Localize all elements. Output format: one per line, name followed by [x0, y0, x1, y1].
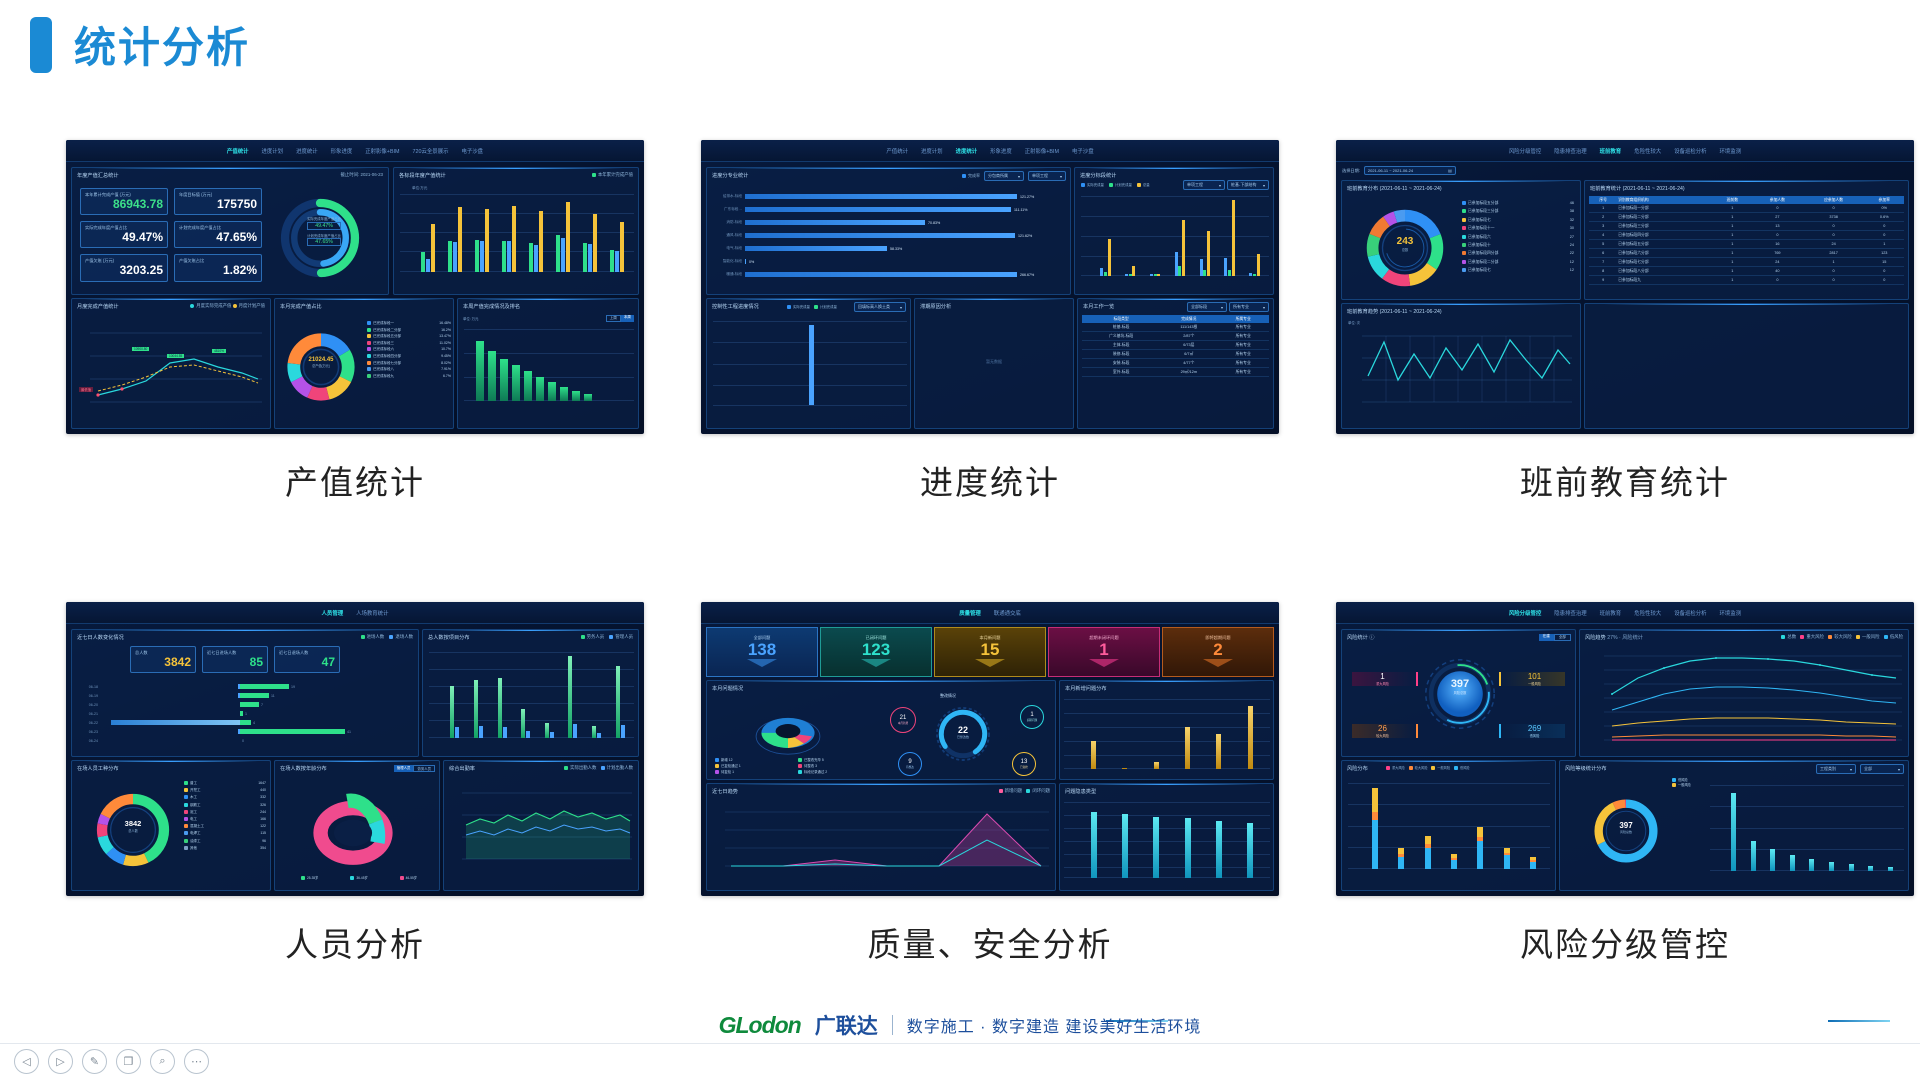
donut-center-label: 总产值(万元)	[296, 363, 346, 368]
kpi-value: 175750	[179, 198, 257, 211]
chart-legend: 新增问题 闭环问题	[999, 788, 1050, 794]
panel-title: 在场人数按年龄分布	[280, 765, 327, 772]
kpi-value: 2	[1213, 641, 1222, 660]
kpi-value: 49.47%	[85, 231, 163, 244]
chart-legend: 实际出勤人数 计划出勤人数	[564, 765, 633, 771]
panel-worker-type: 在场人员工种分布 3842 总人数	[71, 760, 271, 891]
dashboard-screenshot-output-value[interactable]: 产值统计 进度计划 进度统计 形象进度 正射影像+BIM 720云全景展示 电子…	[66, 140, 644, 434]
nav-item[interactable]: 人场教育统计	[356, 609, 388, 617]
col-header: 识别教育组织机构	[1617, 196, 1712, 204]
panel-title: 综合出勤率	[449, 765, 475, 772]
worker-type-legend: 普工1647 开挖工440 木工332 钢筋工326 泥工244 电工166 混…	[184, 781, 266, 851]
kpi-card: 近七日退场人数 47	[274, 646, 340, 673]
panel-risk-level-distribution: 风险分布 重大风险 较大风险 一般风险 低风险	[1341, 760, 1556, 891]
kpi-card: 产值欠账 (万元) 3203.25	[80, 254, 168, 281]
table-row[interactable]: 室外-标段29㎡/12m所有专业	[1082, 368, 1269, 377]
chevron-down-icon: ▾	[1221, 305, 1223, 310]
satellite-label: 待整改	[906, 765, 914, 769]
panel-title: 本月新增问题分布	[1065, 685, 1107, 692]
chevron-down-icon: ▾	[1850, 767, 1852, 772]
kpi-value: 47	[279, 656, 335, 669]
kpi-value: 123	[862, 641, 890, 660]
panel-month-issues: 本月问题情况 新增 12 已整改完毕 5 已复检通过 1 待整改 3	[706, 680, 1056, 780]
chart-data-label: 4810%	[212, 349, 226, 353]
satellite-gauge-overdue: 1 超期问题	[1020, 705, 1044, 729]
card-caption: 进度统计	[701, 456, 1279, 504]
panel-headcount-by-project: 总人数按项目分布 劳务人员 管理人员	[422, 629, 639, 757]
brand-separator	[892, 1015, 893, 1035]
kpi-value: 15	[981, 641, 1000, 660]
panel-risk-statistics: 风险统计 ⓘ 在建 全部 397 风险	[1341, 629, 1576, 757]
select-project[interactable]: 单项工程▾	[1183, 180, 1225, 190]
nav-item[interactable]: 720云全景展示	[413, 147, 449, 155]
gauge-label: 已整改数	[940, 735, 986, 739]
donut-label: 计划完成年度产值占比	[307, 233, 341, 238]
age-tabs[interactable]: 管理人员 劳务人员	[394, 765, 435, 772]
chevron-down-icon: ▾	[1018, 174, 1020, 179]
education-stats-table: 序号 识别教育组织机构 班前数 参加人数 应参加人数 参加率 1已参加标段一分部…	[1589, 196, 1904, 285]
panel-progress-by-stage: 进度分标段统计 实际完成量 计划完成量 总量 单项工程▾ 桩基-下部结构▾	[1074, 167, 1274, 295]
kpi-value: 86943.78	[85, 198, 163, 211]
month-issue-donut-3d	[743, 701, 833, 763]
table-row[interactable]: 装修-标段6/7㎡所有专业	[1082, 350, 1269, 359]
play-button[interactable]: ▷	[48, 1049, 73, 1074]
panel-risk-trend: 风险趋势 27% · 风险统计 总数 重大风险 较大风险 一般风险 低风险	[1579, 629, 1909, 757]
satellite-label: 已复检	[1020, 765, 1028, 769]
card-caption: 风险分级管控	[1336, 918, 1914, 966]
chevron-decoration-icon	[747, 659, 777, 669]
nav-item[interactable]: 正射影像+BIM	[1025, 147, 1059, 155]
risk-value: 1	[1352, 672, 1413, 681]
chart-data-label: 10044.55	[167, 354, 184, 358]
issue-donut-legend: 新增 12 已整改完毕 5 已复检通过 1 待整改 3 待复检 1 标段记录通过…	[715, 757, 875, 774]
kpi-card-new-issues[interactable]: 本月新问题 15	[934, 627, 1046, 677]
panel-title: 本周产值完成情况及排名	[463, 303, 520, 310]
dashboard-screenshot-pre-shift-education[interactable]: 风险分级管控 隐患排查治理 班前教育 危险性较大 设备巡检分析 环境监测 选择日…	[1336, 140, 1914, 434]
select-project[interactable]: 单项工程▾	[1028, 171, 1066, 181]
card-caption: 质量、安全分析	[701, 918, 1279, 966]
dashboard-topbar: 人员管理 人场教育统计	[66, 602, 644, 624]
prev-slide-button[interactable]: ◁	[14, 1049, 39, 1074]
chevron-decoration-icon	[975, 659, 1005, 669]
dashboard-card-output-value[interactable]: 产值统计 进度计划 进度统计 形象进度 正射影像+BIM 720云全景展示 电子…	[66, 140, 644, 504]
donut-center-value: 3842	[108, 819, 158, 828]
select-subcontractor[interactable]: 分包商所属▾	[984, 171, 1024, 181]
dashboard-grid: 产值统计 进度计划 进度统计 形象进度 正射影像+BIM 720云全景展示 电子…	[0, 140, 1920, 966]
nav-item[interactable]: 联通通交底	[994, 609, 1021, 617]
risk-scope-tabs[interactable]: 在建 全部	[1539, 634, 1571, 641]
nav-item[interactable]: 隐患排查治理	[1554, 609, 1586, 617]
panel-control-works: 控制性工程进度情况 实际完成量 计划完成量 回填标高人换土类▾	[706, 298, 911, 429]
nav-item[interactable]: 环境监测	[1720, 147, 1742, 155]
col-header: 参加人数	[1752, 196, 1803, 204]
table-row[interactable]: 9已参加标段九1000	[1589, 276, 1904, 285]
panel-title: 近七日人数变化情况	[77, 634, 124, 641]
col-header: 标段类型	[1082, 315, 1160, 323]
panel-title: 本月工作一览	[1083, 303, 1114, 310]
select-structure[interactable]: 桩基-下部结构▾	[1227, 180, 1269, 190]
satellite-label: 超期问题	[1027, 718, 1037, 722]
dashboard-card-personnel[interactable]: 人员管理 人场教育统计 近七日人数变化情况 进场人数 退场人数 总人数 3842	[66, 602, 644, 966]
risk-label: 低风险	[1504, 733, 1565, 738]
kpi-value: 85	[207, 656, 263, 669]
glodon-logo-cn: 广联达	[815, 1010, 878, 1040]
table-row[interactable]: 7已参加标段七分部124115	[1589, 258, 1904, 267]
tab-this-week[interactable]: 本周	[621, 315, 634, 322]
nav-item[interactable]: 产值统计	[227, 147, 249, 155]
panel-attendance-rate: 综合出勤率 实际出勤人数 计划出勤人数	[443, 760, 639, 891]
table-row[interactable]: 1已参加标段一分部1000%	[1589, 204, 1904, 213]
satellite-gauge-rechecked: 13 已复检	[1012, 752, 1036, 776]
axis-unit: 单位: 次	[1348, 320, 1360, 325]
chevron-decoration-icon	[861, 659, 891, 669]
chart-legend: 月度实际完成产值 月度计划产值	[190, 303, 265, 309]
nav-item[interactable]: 进度计划	[262, 147, 284, 155]
chevron-decoration-icon	[1089, 659, 1119, 669]
donut-center-label: 总人数	[108, 828, 158, 833]
select-project-type[interactable]: 工程类别▾	[1816, 764, 1856, 774]
pie-legend-list: 已完成标段一16.48% 已完成标段二分部16.2% 已完成标段五分部13.47…	[367, 321, 451, 379]
grade-side-legend: 低风险 一般风险	[1672, 777, 1691, 787]
panel-month-work-list: 本月工作一览 全部标段▾ 所有专业▾ 标段类型 完成情况 所属专业 桩基-标段1…	[1077, 298, 1274, 429]
dashboard-card-pre-shift-education[interactable]: 风险分级管控 隐患排查治理 班前教育 危险性较大 设备巡检分析 环境监测 选择日…	[1336, 140, 1914, 504]
kpi-card: 计划完成年度产值占比 47.65%	[174, 221, 262, 248]
risk-value: 101	[1504, 672, 1565, 681]
chevron-down-icon: ▾	[900, 305, 902, 310]
select-all-type[interactable]: 全部▾	[1860, 764, 1904, 774]
tab-all[interactable]: 全部	[1554, 634, 1571, 641]
panel-title: 近七日趋势	[712, 788, 738, 795]
donut-value: 47.65%	[307, 238, 341, 246]
chart-legend: 完成率	[962, 173, 980, 179]
col-header: 所属专业	[1217, 315, 1269, 323]
kpi-value: 47.65%	[179, 231, 257, 244]
axis-unit: 单位:万元	[412, 186, 427, 191]
kpi-card-all-issues[interactable]: 全部问题 138	[706, 627, 818, 677]
table-row[interactable]: 6已参加标段六分部17692817123	[1589, 249, 1904, 258]
kpi-value: 1.82%	[179, 264, 257, 277]
tab-in-progress[interactable]: 在建	[1539, 634, 1554, 641]
donut-value: 49.47%	[307, 222, 341, 230]
satellite-gauge-new: 21 本月新增	[890, 707, 916, 733]
pages-button[interactable]: ❐	[116, 1049, 141, 1074]
table-row[interactable]: 桩基-标段111/143根所有专业	[1082, 323, 1269, 332]
nav-item[interactable]: 形象进度	[331, 147, 353, 155]
col-header: 完成情况	[1160, 315, 1217, 323]
panel-new-issue-distribution: 本月新增问题分布	[1059, 680, 1274, 780]
panel-progress-by-profession: 进度分专业统计 完成率 分包商所属▾ 单项工程▾ 给排水-标段121.27% 广…	[706, 167, 1071, 295]
kpi-card-closed-issues[interactable]: 已闭环问题 123	[820, 627, 932, 677]
as-of-time: 截止时间: 2021-06-23	[341, 172, 383, 178]
panel-title: 本月问题情况	[712, 685, 743, 692]
chart-legend: 总数 重大风险 较大风险 一般风险 低风险	[1781, 634, 1903, 640]
nav-item[interactable]: 产值统计	[886, 147, 908, 155]
tab-last-week[interactable]: 上周	[606, 315, 621, 322]
panel-title: 年度产值汇总统计	[77, 172, 119, 179]
table-row[interactable]: 广义基坑-标段2/87个所有专业	[1082, 332, 1269, 341]
select-all-professions[interactable]: 所有专业▾	[1229, 302, 1269, 312]
kpi-value: 3203.25	[85, 264, 163, 277]
panel-title: 风险趋势 27% · 风险统计	[1585, 634, 1643, 641]
kpi-card-overdue-issues[interactable]: 超期未闭环问题 1	[1048, 627, 1160, 677]
nav-item[interactable]: 人员管理	[322, 609, 344, 617]
table-row[interactable]: 3已参加标段三分部11300	[1589, 222, 1904, 231]
toolbar-divider	[0, 1043, 1920, 1044]
date-filter-label: 选择日期:	[1342, 168, 1360, 174]
kpi-value: 3842	[135, 656, 191, 669]
dashboard-screenshot-personnel[interactable]: 人员管理 人场教育统计 近七日人数变化情况 进场人数 退场人数 总人数 3842	[66, 602, 644, 896]
chevron-down-icon: ▾	[1898, 767, 1900, 772]
date-filter[interactable]: 选择日期: 2021-06-11 ~ 2021-06-24▤	[1342, 166, 1456, 175]
select-all-sections[interactable]: 全部标段▾	[1187, 302, 1227, 312]
empty-state-text: 暂无数据	[915, 359, 1073, 365]
more-button[interactable]: ⋯	[184, 1049, 209, 1074]
panel-title: 滞期原因分析	[920, 303, 951, 310]
nav-item[interactable]: 设备巡检分析	[1674, 609, 1706, 617]
age-legend: 25-35岁 36-45岁 46-55岁	[285, 875, 433, 880]
risk-value: 269	[1504, 724, 1565, 733]
kpi-card: 产值欠账占比 1.82%	[174, 254, 262, 281]
panel-title: 总人数按项目分布	[428, 634, 470, 641]
monthly-line-chart	[76, 321, 266, 421]
panel-title: 控制性工程进度情况	[712, 303, 759, 310]
nav-item[interactable]: 进度计划	[921, 147, 943, 155]
risk-trend-line-chart	[1584, 650, 1906, 750]
card-caption: 产值统计	[66, 456, 644, 504]
panel-week-rank: 本周产值完成情况及排名 上周 本周 单位: 万元	[457, 298, 639, 429]
dashboard-screenshot-progress[interactable]: 产值统计 进度计划 进度统计 形象进度 正射影像+BIM 电子沙盘 进度分专业统…	[701, 140, 1279, 434]
chart-legend: 实际完成量 计划完成量	[787, 304, 837, 309]
calendar-icon: ▤	[1448, 168, 1452, 173]
gauge-value: 22	[940, 725, 986, 735]
panel-education-table: 班前教育统计 (2021-06-11 ~ 2021-06-24) 序号 识别教育…	[1584, 180, 1909, 300]
panel-title: 风险统计 ⓘ	[1347, 634, 1374, 641]
table-row[interactable]: 5已参加标段五分部116241	[1589, 240, 1904, 249]
tab-management[interactable]: 管理人员	[394, 765, 414, 772]
chevron-down-icon: ▾	[1060, 174, 1062, 179]
card-caption: 班前教育统计	[1336, 456, 1914, 504]
kpi-card-due-soon-issues[interactable]: 即将超期问题 2	[1162, 627, 1274, 677]
dashboard-row-1: 产值统计 进度计划 进度统计 形象进度 正射影像+BIM 720云全景展示 电子…	[0, 140, 1920, 504]
donut-label: 实际完成年度产值占比	[307, 216, 341, 221]
panel-title: 班前教育趋势 (2021-06-11 ~ 2021-06-24)	[1347, 308, 1442, 315]
risk-label: 重大风险	[1352, 681, 1413, 686]
panel-title: 风险等级统计分布	[1565, 765, 1607, 772]
donut-center-label: 总数	[1377, 247, 1433, 252]
table-row[interactable]: 8已参加标段八分部14000	[1589, 267, 1904, 276]
chart-annotation: 最低值	[79, 387, 93, 392]
zoom-button[interactable]: ⌕	[150, 1049, 175, 1074]
panel-education-trend: 班前教育趋势 (2021-06-11 ~ 2021-06-24) 单位: 次	[1341, 303, 1581, 429]
week-tabs[interactable]: 上周 本周	[606, 315, 634, 322]
chart-legend: 实际完成量 计划完成量 总量	[1081, 182, 1150, 187]
risk-label: 一般风险	[1504, 681, 1565, 686]
kpi-card: 本年累计完成产值 (万元) 86943.78	[80, 188, 168, 215]
risk-item-general: 101 一般风险	[1499, 672, 1565, 686]
table-row[interactable]: 2已参加标段二分部12737380.6%	[1589, 213, 1904, 222]
panel-title: 问题隐患类型	[1065, 788, 1096, 795]
kpi-card: 近七日进场人数 85	[202, 646, 268, 673]
nav-item[interactable]: 质量管理	[959, 609, 981, 617]
chart-legend: 劳务人员 管理人员	[581, 634, 633, 640]
chevron-decoration-icon	[1203, 659, 1233, 669]
tab-labor[interactable]: 劳务人员	[413, 765, 435, 772]
week-trend-area-chart	[711, 804, 1053, 882]
chart-data-label: 10900.80	[132, 347, 149, 351]
page-header: 统计分析	[30, 14, 250, 75]
brand-slogan: 数字施工 · 数字建造 建设美好生活环境	[907, 1013, 1202, 1037]
panel-week-trend: 近七日趋势 新增问题 闭环问题	[706, 783, 1056, 891]
nav-item[interactable]: 进度统计	[956, 147, 978, 155]
nav-item[interactable]: 危险性较大	[1634, 147, 1661, 155]
col-header: 参加率	[1865, 196, 1905, 204]
kpi-card: 年度目标值 (万元) 175750	[174, 188, 262, 215]
dashboard-screenshot-quality-safety[interactable]: 质量管理 联通通交底 全部问题 138 已闭环问题 123	[701, 602, 1279, 896]
panel-title: 本月完成产值占比	[280, 303, 322, 310]
nav-item[interactable]: 电子沙盘	[1072, 147, 1094, 155]
nav-item[interactable]: 电子沙盘	[461, 147, 483, 155]
dashboard-screenshot-risk-control[interactable]: 风险分级管控 隐患排查治理 班前教育 危险性较大 设备巡检分析 环境监测 风险统…	[1336, 602, 1914, 896]
select-control-work[interactable]: 回填标高人换土类▾	[854, 302, 906, 312]
pen-button[interactable]: ✎	[82, 1049, 107, 1074]
table-row[interactable]: 主体-标段6/73层所有专业	[1082, 341, 1269, 350]
horizontal-bar-chart: 给排水-标段121.27% 广东标段…111.11% 消防-标段70.83% 通…	[713, 190, 1065, 281]
gauge-title: 整改情况	[940, 693, 956, 699]
kpi-value: 138	[748, 641, 776, 660]
page-title: 统计分析	[74, 14, 250, 75]
dashboard-card-progress[interactable]: 产值统计 进度计划 进度统计 形象进度 正射影像+BIM 电子沙盘 进度分专业统…	[701, 140, 1279, 504]
panel-title: 进度分专业统计	[712, 172, 748, 179]
chevron-down-icon: ▾	[1263, 183, 1265, 188]
donut-center-label: 风险总数	[1604, 830, 1648, 834]
nav-item[interactable]: 正射影像+BIM	[365, 147, 399, 155]
col-header: 序号	[1589, 196, 1617, 204]
education-legend-list: 已参加标段五分部46 已参加标段三分部38 已参加标段七32 已参加标段十一30…	[1462, 201, 1574, 273]
work-list-table: 标段类型 完成情况 所属专业 桩基-标段111/143根所有专业 广义基坑-标段…	[1082, 315, 1269, 377]
nav-item[interactable]: 隐患排查治理	[1554, 147, 1586, 155]
gauge-center-value: 397	[1432, 678, 1488, 690]
dashboard-topbar: 产值统计 进度计划 进度统计 形象进度 正射影像+BIM 720云全景展示 电子…	[66, 140, 644, 162]
panel-title: 各标段年度产值统计	[399, 172, 446, 179]
nav-item[interactable]: 设备巡检分析	[1674, 147, 1706, 155]
nav-item[interactable]: 进度统计	[296, 147, 318, 155]
panel-education-distribution: 班前教育分布 (2021-06-11 ~ 2021-06-24)	[1341, 180, 1581, 300]
kpi-ribbon: 全部问题 138 已闭环问题 123 本月新问题 15	[706, 627, 1274, 677]
table-row[interactable]: 4已参加标段四分部1000	[1589, 231, 1904, 240]
panel-hazard-types: 问题隐患类型	[1059, 783, 1274, 891]
dashboard-topbar: 产值统计 进度计划 进度统计 形象进度 正射影像+BIM 电子沙盘	[701, 140, 1279, 162]
nav-item[interactable]: 风险分级管控	[1509, 147, 1541, 155]
panel-monthly-output: 月度完成产值统计 月度实际完成产值 月度计划产值 最低值 10900.80 10…	[71, 298, 271, 429]
risk-value: 26	[1352, 724, 1413, 733]
kpi-card: 实际完成年度产值占比 49.47%	[80, 221, 168, 248]
kpi-value: 1	[1099, 641, 1108, 660]
panel-title: 风险分布	[1347, 765, 1368, 772]
nav-item[interactable]: 形象进度	[990, 147, 1012, 155]
chevron-down-icon: ▾	[1263, 305, 1265, 310]
nav-item[interactable]: 风险分级管控	[1509, 609, 1541, 617]
nav-item[interactable]: 班前教育	[1600, 147, 1622, 155]
education-trend-line-chart	[1346, 328, 1576, 420]
slide-toolbar: ◁ ▷ ✎ ❐ ⌕ ⋯	[14, 1049, 209, 1074]
panel-month-output-share: 本月完成产值占比 21024.45 总产值(万元)	[274, 298, 454, 429]
panel-education-detail	[1584, 303, 1909, 429]
dashboard-card-risk-control[interactable]: 风险分级管控 隐患排查治理 班前教育 危险性较大 设备巡检分析 环境监测 风险统…	[1336, 602, 1914, 966]
diverging-bar-chart: 06-1819 06-1911 06-207 06-211 06-224 06-…	[78, 682, 414, 745]
risk-label: 较大风险	[1352, 733, 1413, 738]
col-header: 应参加人数	[1803, 196, 1865, 204]
dashboard-topbar: 风险分级管控 隐患排查治理 班前教育 危险性较大 设备巡检分析 环境监测	[1336, 602, 1914, 624]
dashboard-topbar: 质量管理 联通通交底	[701, 602, 1279, 624]
panel-annual-summary: 年度产值汇总统计 截止时间: 2021-06-23 本年累计完成产值 (万元) …	[71, 167, 389, 295]
satellite-label: 本月新增	[898, 721, 908, 725]
panel-title: 月度完成产值统计	[77, 303, 119, 310]
donut-center-value: 397	[1604, 821, 1648, 830]
glodon-logo: GLodon	[719, 1012, 801, 1039]
panel-headcount-change: 近七日人数变化情况 进场人数 退场人数 总人数 3842 近七日进场人数 85	[71, 629, 419, 757]
chart-legend: 进场人数 退场人数	[361, 634, 413, 640]
dashboard-card-quality-safety[interactable]: 质量管理 联通通交底 全部问题 138 已闭环问题 123	[701, 602, 1279, 966]
risk-item-large: 26 较大风险	[1352, 724, 1418, 738]
dashboard-row-2: 人员管理 人场教育统计 近七日人数变化情况 进场人数 退场人数 总人数 3842	[0, 602, 1920, 966]
risk-item-low: 269 低风险	[1499, 724, 1565, 738]
rectification-gauge-cluster: 整改情况 22 已整改数 21 本月新	[882, 691, 1052, 779]
panel-risk-grade-distribution: 风险等级统计分布 工程类别▾ 全部▾ 397 风险总数	[1559, 760, 1909, 891]
panel-title: 进度分标段统计	[1080, 172, 1116, 179]
date-range-input[interactable]: 2021-06-11 ~ 2021-06-24▤	[1364, 166, 1456, 175]
gauge-center-label: 风险总数	[1432, 690, 1488, 695]
footer-brand: GLodon 广联达 数字施工 · 数字建造 建设美好生活环境	[0, 1010, 1920, 1040]
dashboard-topbar: 风险分级管控 隐患排查治理 班前教育 危险性较大 设备巡检分析 环境监测	[1336, 140, 1914, 162]
nav-item[interactable]: 班前教育	[1600, 609, 1622, 617]
info-icon[interactable]: ⓘ	[1369, 635, 1374, 641]
chart-legend: 重大风险 较大风险 一般风险 低风险	[1386, 765, 1469, 770]
axis-unit: 单位: 万元	[463, 316, 478, 321]
satellite-gauge-pending: 9 待整改	[898, 752, 922, 776]
card-caption: 人员分析	[66, 918, 644, 966]
nav-item[interactable]: 危险性较大	[1634, 609, 1661, 617]
nav-item[interactable]: 环境监测	[1720, 609, 1742, 617]
attendance-area-chart	[448, 783, 636, 879]
panel-age-distribution: 在场人数按年龄分布 管理人员 劳务人员 25-35岁 36-45岁	[274, 760, 440, 891]
panel-title: 班前教育分布 (2021-06-11 ~ 2021-06-24)	[1347, 185, 1442, 192]
panel-section-annual-bars: 各标段年度产值统计 本年累计完成产值 单位:万元	[393, 167, 639, 295]
risk-item-major: 1 重大风险	[1352, 672, 1418, 686]
title-accent-bar	[30, 17, 52, 73]
col-header: 班前数	[1713, 196, 1752, 204]
donut-center-value: 243	[1377, 236, 1433, 247]
kpi-card: 总人数 3842	[130, 646, 196, 673]
table-row[interactable]: 安装-标段4/77个所有专业	[1082, 359, 1269, 368]
chart-legend: 本年累计完成产值	[592, 172, 633, 178]
panel-title: 班前教育统计 (2021-06-11 ~ 2021-06-24)	[1590, 185, 1685, 192]
panel-delay-analysis: 滞期原因分析 暂无数据	[914, 298, 1074, 429]
chevron-down-icon: ▾	[1219, 183, 1221, 188]
age-distribution-rose-chart	[305, 789, 401, 873]
panel-title: 在场人员工种分布	[77, 765, 119, 772]
